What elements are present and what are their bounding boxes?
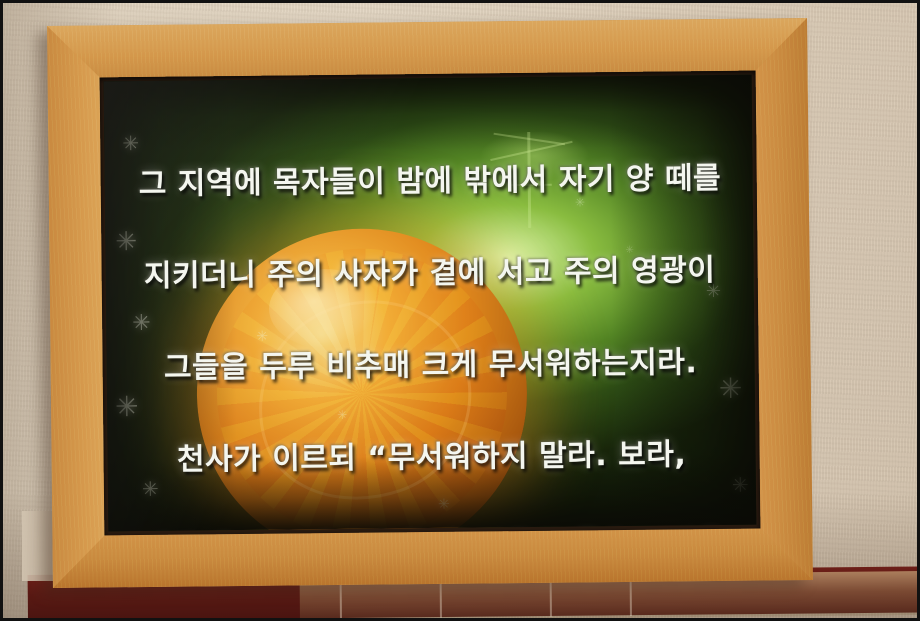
verse-text-block: 그 지역에 목자들이 밤에 밖에서 자기 양 떼를 지키더니 주의 사자가 곁에… (104, 75, 757, 532)
verse-line-5: 내가 온 백성에게 미칠 큰 기쁨의 좋은 소식을 (142, 521, 722, 531)
photograph: ✳✳✳✳✳✳✳✳✳✳✳✳✳✳✳✳✳ 그 지역에 목자들이 밤에 밖에서 자기 양… (0, 0, 920, 621)
picture-frame: ✳✳✳✳✳✳✳✳✳✳✳✳✳✳✳✳✳ 그 지역에 목자들이 밤에 밖에서 자기 양… (47, 18, 813, 588)
verse-line-1: 그 지역에 목자들이 밤에 밖에서 자기 양 떼를 (138, 153, 718, 203)
verse-line-4: 천사가 이르되 “무서워하지 말라. 보라, (141, 429, 721, 479)
verse-line-2: 지키더니 주의 사자가 곁에 서고 주의 영광이 (139, 245, 719, 295)
frame-inner-rabbet: ✳✳✳✳✳✳✳✳✳✳✳✳✳✳✳✳✳ 그 지역에 목자들이 밤에 밖에서 자기 양… (100, 71, 761, 536)
snowflake-icon: ✳ (754, 310, 756, 332)
frame-moulding: ✳✳✳✳✳✳✳✳✳✳✳✳✳✳✳✳✳ 그 지역에 목자들이 밤에 밖에서 자기 양… (47, 18, 813, 588)
verse-line-3: 그들을 두루 비추매 크게 무서워하는지라. (140, 337, 720, 387)
projection-screen: ✳✳✳✳✳✳✳✳✳✳✳✳✳✳✳✳✳ 그 지역에 목자들이 밤에 밖에서 자기 양… (104, 75, 757, 532)
